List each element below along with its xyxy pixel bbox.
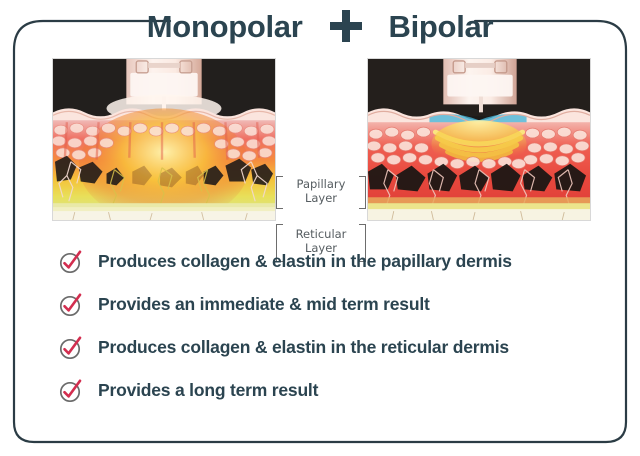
check-circle-icon xyxy=(58,250,82,274)
papillary-bracket-right xyxy=(359,176,366,209)
list-item: Provides a long term result xyxy=(58,369,618,412)
list-item-label: Provides a long term result xyxy=(98,382,318,400)
papillary-bracket-left xyxy=(276,176,283,209)
header: Monopolar Bipolar xyxy=(0,0,640,52)
list-item-label: Provides an immediate & mid term result xyxy=(98,296,430,314)
check-circle-icon xyxy=(58,379,82,403)
monopolar-title: Monopolar xyxy=(147,11,303,42)
list-item: Produces collagen & elastin in the retic… xyxy=(58,326,618,369)
diagrams-row: Papillary Layer Reticular Layer xyxy=(0,58,640,228)
bipolar-diagram xyxy=(367,58,591,221)
monopolar-diagram xyxy=(52,58,276,221)
papillary-layer-label: Papillary Layer xyxy=(282,172,360,212)
benefits-list: Produces collagen & elastin in the papil… xyxy=(58,240,618,412)
bipolar-title: Bipolar xyxy=(389,11,494,42)
list-item-label: Produces collagen & elastin in the retic… xyxy=(98,339,509,357)
list-item: Provides an immediate & mid term result xyxy=(58,283,618,326)
list-item-label: Produces collagen & elastin in the papil… xyxy=(98,253,512,271)
monopolar-skin-illustration xyxy=(53,59,275,220)
check-circle-icon xyxy=(58,336,82,360)
bipolar-skin-illustration xyxy=(368,59,590,220)
list-item: Produces collagen & elastin in the papil… xyxy=(58,240,618,283)
check-circle-icon xyxy=(58,293,82,317)
papillary-layer-text: Papillary Layer xyxy=(297,178,346,205)
plus-icon xyxy=(329,9,363,43)
